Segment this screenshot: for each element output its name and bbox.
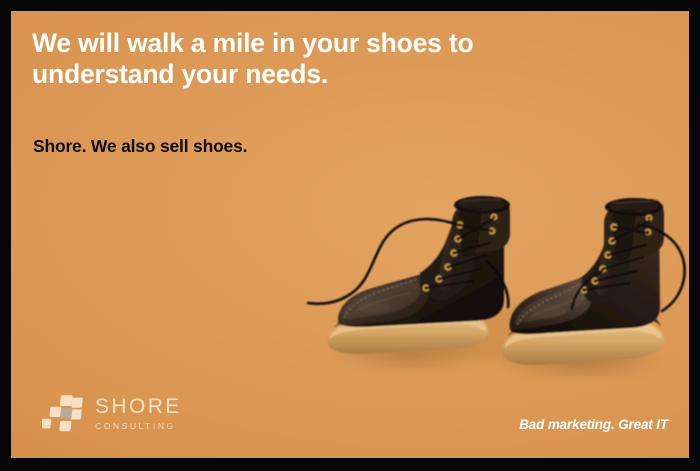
- page-title: We will walk a mile in your shoes to und…: [32, 28, 562, 90]
- logo-wordmark: SHORE CONSULTING: [95, 395, 182, 433]
- subheadline: Shore. We also sell shoes.: [33, 136, 247, 157]
- shore-tiles-icon: [42, 392, 86, 436]
- logo-name: SHORE: [95, 396, 182, 417]
- shore-consulting-logo[interactable]: SHORE CONSULTING: [42, 392, 182, 436]
- advertisement-slide: We will walk a mile in your shoes to und…: [0, 0, 700, 471]
- tagline: Bad marketing. Great IT: [519, 417, 668, 432]
- slide-canvas: We will walk a mile in your shoes to und…: [11, 11, 689, 458]
- work-boots-photo: [286, 121, 689, 381]
- logo-subtitle: CONSULTING: [95, 417, 182, 433]
